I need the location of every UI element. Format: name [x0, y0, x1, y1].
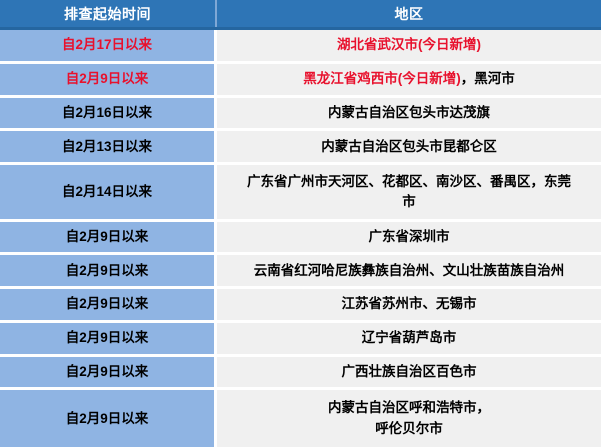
column-header-region: 地区	[217, 0, 601, 27]
region-text: 内蒙古自治区包头市达茂旗	[223, 103, 595, 123]
region-name-line2: 呼伦贝尔市	[375, 421, 443, 436]
cell-start-time: 自2月9日以来	[0, 289, 217, 320]
region-name: 江苏省苏州市、无锡市	[342, 296, 477, 311]
region-text: 广西壮族自治区百色市	[223, 362, 595, 382]
region-text: 内蒙古自治区呼和浩特市，呼伦贝尔市	[223, 398, 595, 439]
cell-start-time: 自2月9日以来	[0, 255, 217, 286]
cell-start-time: 自2月17日以来	[0, 30, 217, 61]
cell-region: 湖北省武汉市(今日新增)	[217, 30, 601, 61]
table-row: 自2月17日以来湖北省武汉市(今日新增)	[0, 30, 601, 64]
table-row: 自2月9日以来江苏省苏州市、无锡市	[0, 289, 601, 323]
cell-region: 广西壮族自治区百色市	[217, 357, 601, 388]
region-text: 湖北省武汉市(今日新增)	[223, 35, 595, 55]
region-name: 广东省深圳市	[369, 229, 450, 244]
region-name: 内蒙古自治区包头市达茂旗	[328, 105, 490, 120]
cell-start-time: 自2月9日以来	[0, 390, 217, 446]
region-text: 广东省深圳市	[223, 227, 595, 247]
table-header-row: 排查起始时间 地区	[0, 0, 601, 30]
region-text: 黑龙江省鸡西市(今日新增)，黑河市	[223, 69, 595, 89]
region-name: 内蒙古自治区呼和浩特市，	[328, 400, 490, 415]
cell-start-time: 自2月9日以来	[0, 64, 217, 95]
cell-region: 内蒙古自治区包头市达茂旗	[217, 98, 601, 129]
risk-area-table: 排查起始时间 地区 自2月17日以来湖北省武汉市(今日新增)自2月9日以来黑龙江…	[0, 0, 601, 447]
cell-start-time: 自2月9日以来	[0, 323, 217, 354]
table-row: 自2月9日以来黑龙江省鸡西市(今日新增)，黑河市	[0, 64, 601, 98]
cell-region: 内蒙古自治区呼和浩特市，呼伦贝尔市	[217, 390, 601, 446]
region-name: 辽宁省葫芦岛市	[362, 330, 457, 345]
region-text: 辽宁省葫芦岛市	[223, 328, 595, 348]
region-new-today: 湖北省武汉市(今日新增)	[337, 37, 481, 52]
region-name: 云南省红河哈尼族彝族自治州、文山壮族苗族自治州	[254, 263, 565, 278]
region-text: 广东省广州市天河区、花都区、南沙区、番禺区，东莞市	[223, 172, 595, 213]
table-row: 自2月16日以来内蒙古自治区包头市达茂旗	[0, 98, 601, 132]
cell-region: 广东省深圳市	[217, 222, 601, 253]
region-name: 内蒙古自治区包头市昆都仑区	[321, 139, 497, 154]
cell-start-time: 自2月9日以来	[0, 222, 217, 253]
table-row: 自2月13日以来内蒙古自治区包头市昆都仑区	[0, 131, 601, 165]
table-row: 自2月9日以来广西壮族自治区百色市	[0, 357, 601, 391]
cell-region: 黑龙江省鸡西市(今日新增)，黑河市	[217, 64, 601, 95]
table-row: 自2月9日以来内蒙古自治区呼和浩特市，呼伦贝尔市	[0, 390, 601, 446]
region-name: 广西壮族自治区百色市	[342, 364, 477, 379]
region-text: 云南省红河哈尼族彝族自治州、文山壮族苗族自治州	[223, 261, 595, 281]
cell-start-time: 自2月16日以来	[0, 98, 217, 129]
table-body: 自2月17日以来湖北省武汉市(今日新增)自2月9日以来黑龙江省鸡西市(今日新增)…	[0, 30, 601, 447]
region-text: 江苏省苏州市、无锡市	[223, 294, 595, 314]
cell-region: 广东省广州市天河区、花都区、南沙区、番禺区，东莞市	[217, 165, 601, 218]
cell-start-time: 自2月14日以来	[0, 165, 217, 218]
region-name-line2: 市	[402, 194, 416, 209]
table-row: 自2月14日以来广东省广州市天河区、花都区、南沙区、番禺区，东莞市	[0, 165, 601, 221]
cell-start-time: 自2月9日以来	[0, 357, 217, 388]
table-row: 自2月9日以来广东省深圳市	[0, 222, 601, 256]
region-new-today: 黑龙江省鸡西市(今日新增)	[303, 71, 461, 86]
cell-region: 江苏省苏州市、无锡市	[217, 289, 601, 320]
cell-region: 内蒙古自治区包头市昆都仑区	[217, 131, 601, 162]
cell-start-time: 自2月13日以来	[0, 131, 217, 162]
region-name: ，黑河市	[461, 71, 515, 86]
cell-region: 辽宁省葫芦岛市	[217, 323, 601, 354]
cell-region: 云南省红河哈尼族彝族自治州、文山壮族苗族自治州	[217, 255, 601, 286]
column-header-start-time: 排查起始时间	[0, 0, 217, 27]
region-name: 广东省广州市天河区、花都区、南沙区、番禺区，东莞	[247, 174, 571, 189]
table-row: 自2月9日以来云南省红河哈尼族彝族自治州、文山壮族苗族自治州	[0, 255, 601, 289]
table-row: 自2月9日以来辽宁省葫芦岛市	[0, 323, 601, 357]
region-text: 内蒙古自治区包头市昆都仑区	[223, 137, 595, 157]
